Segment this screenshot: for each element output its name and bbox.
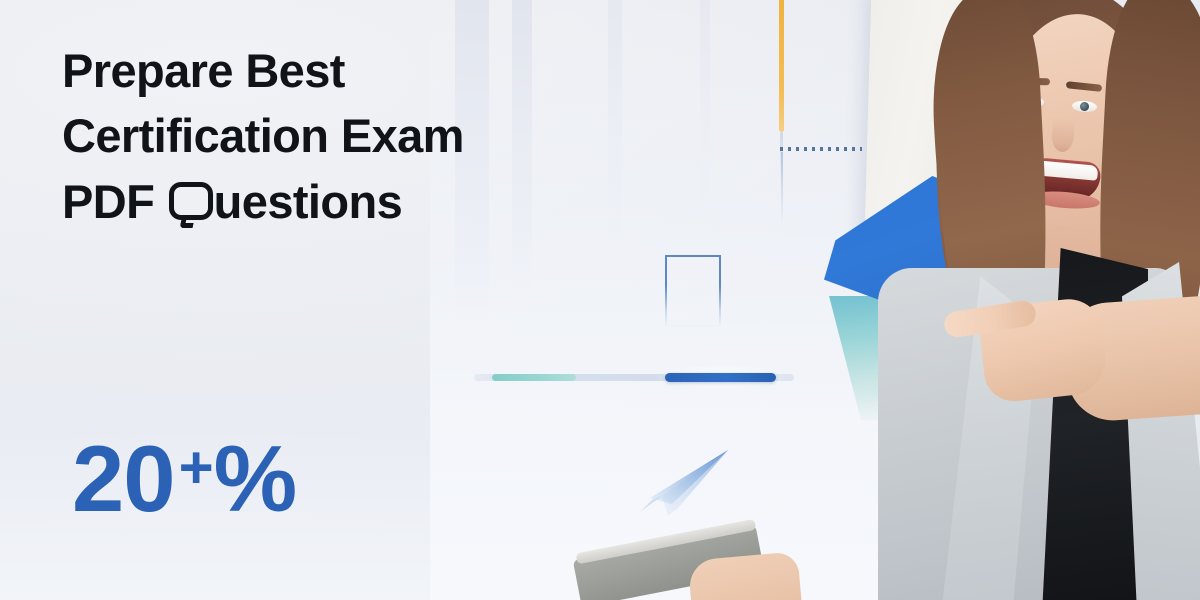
- promo-banner: Prepare Best Certification Exam PDF uest…: [0, 0, 1200, 600]
- headline-line-1: Prepare Best: [62, 38, 622, 103]
- headline-line-3: PDF uestions: [62, 169, 622, 234]
- dotted-horizontal-rule-icon: [780, 147, 862, 151]
- progress-bar-segment-blue: [665, 373, 776, 382]
- stat-number: 20: [72, 432, 175, 526]
- headline-line-3-suffix: uestions: [214, 175, 402, 228]
- person-teeth: [1035, 160, 1098, 180]
- paper-plane-icon: [632, 446, 736, 520]
- person-photo: [886, 0, 1200, 600]
- speech-bubble-outline: [169, 182, 213, 220]
- orange-vertical-rule-icon: [779, 0, 784, 132]
- page-title: Prepare Best Certification Exam PDF uest…: [62, 38, 622, 234]
- dotted-rule-drop-line: [781, 152, 783, 224]
- ghost-column-4: [700, 0, 710, 210]
- speech-bubble-q-icon: [169, 182, 213, 226]
- square-outline-icon: [665, 255, 721, 327]
- progress-bar-segment-teal: [492, 374, 576, 381]
- stat-plus-sign: +: [179, 438, 213, 498]
- headline-line-3-prefix: PDF: [62, 175, 167, 228]
- stat-percent-sign: %: [214, 432, 297, 526]
- speech-bubble-tail: [179, 215, 195, 228]
- discount-stat: 20 + %: [72, 432, 296, 526]
- headline-line-2: Certification Exam: [62, 103, 622, 168]
